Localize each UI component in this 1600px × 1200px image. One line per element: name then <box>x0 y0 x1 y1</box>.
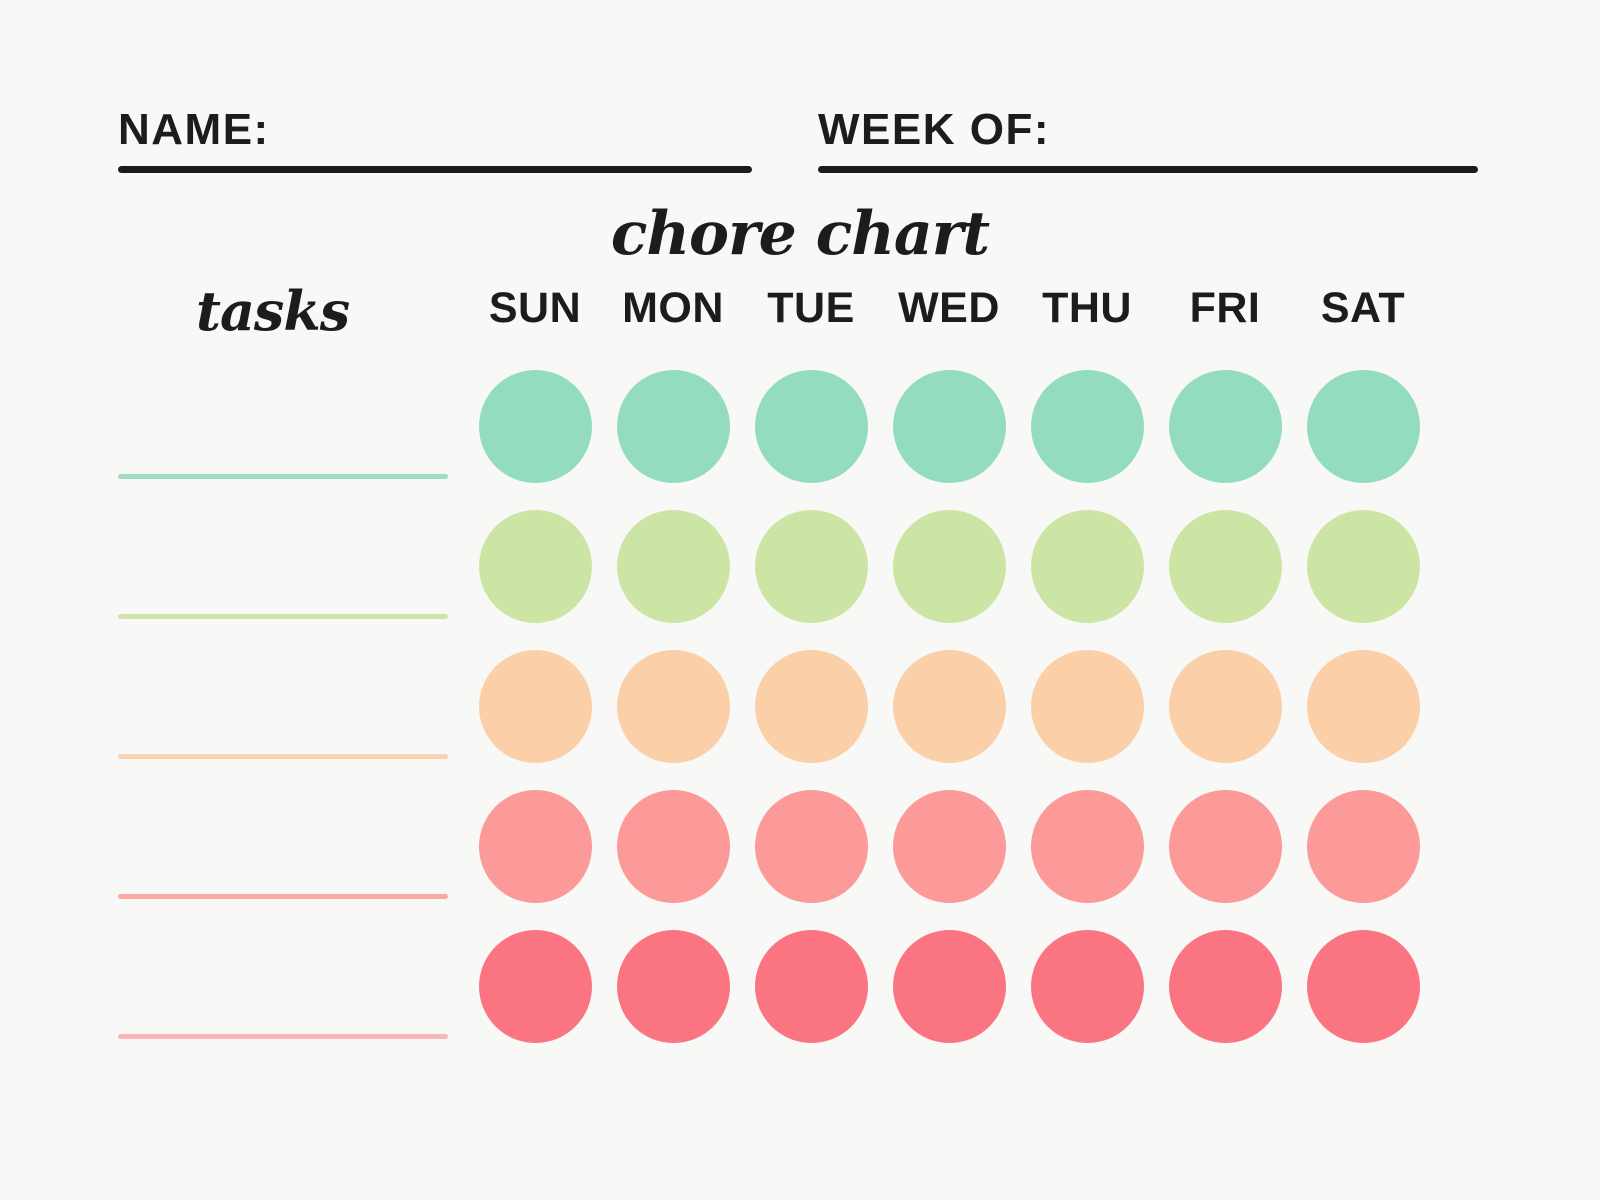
chore-checkbox-circle-sat[interactable] <box>1307 510 1420 623</box>
chore-checkbox-circle-tue[interactable] <box>755 650 868 763</box>
day-header-sat: SAT <box>1294 287 1432 330</box>
page-title: chore chart <box>0 204 1600 264</box>
chore-checkbox-circle-fri[interactable] <box>1169 930 1282 1043</box>
checkbox-row <box>466 496 1432 636</box>
tasks-column-header: tasks <box>196 284 349 338</box>
day-header-fri: FRI <box>1156 287 1294 330</box>
task-input-5[interactable] <box>118 916 448 1056</box>
chore-checkbox-circle-mon[interactable] <box>617 510 730 623</box>
chore-row <box>0 776 1600 916</box>
chore-checkbox-circle-sat[interactable] <box>1307 790 1420 903</box>
chore-checkbox-circle-sun[interactable] <box>479 510 592 623</box>
day-header-thu: THU <box>1018 287 1156 330</box>
chore-checkbox-circle-fri[interactable] <box>1169 370 1282 483</box>
task-write-in-line[interactable] <box>118 474 448 479</box>
day-header-row: SUNMONTUEWEDTHUFRISAT <box>466 287 1432 330</box>
task-write-in-line[interactable] <box>118 894 448 899</box>
chore-checkbox-circle-wed[interactable] <box>893 790 1006 903</box>
chore-checkbox-circle-fri[interactable] <box>1169 510 1282 623</box>
chore-checkbox-circle-mon[interactable] <box>617 790 730 903</box>
chore-checkbox-circle-wed[interactable] <box>893 930 1006 1043</box>
week-of-field-group: WEEK OF: <box>818 108 1478 173</box>
task-input-2[interactable] <box>118 496 448 636</box>
chore-checkbox-circle-mon[interactable] <box>617 650 730 763</box>
chore-checkbox-circle-sun[interactable] <box>479 650 592 763</box>
day-header-mon: MON <box>604 287 742 330</box>
task-write-in-line[interactable] <box>118 754 448 759</box>
chore-checkbox-circle-sun[interactable] <box>479 930 592 1043</box>
chore-checkbox-circle-tue[interactable] <box>755 370 868 483</box>
name-field-label: NAME: <box>118 108 752 152</box>
checkbox-row <box>466 916 1432 1056</box>
chore-checkbox-circle-thu[interactable] <box>1031 370 1144 483</box>
chore-row <box>0 916 1600 1056</box>
chore-checkbox-circle-tue[interactable] <box>755 930 868 1043</box>
chore-checkbox-circle-fri[interactable] <box>1169 790 1282 903</box>
name-write-in-line[interactable] <box>118 166 752 173</box>
checkbox-row <box>466 356 1432 496</box>
chore-row <box>0 636 1600 776</box>
week-of-write-in-line[interactable] <box>818 166 1478 173</box>
chore-checkbox-circle-thu[interactable] <box>1031 510 1144 623</box>
name-field-group: NAME: <box>118 108 752 173</box>
task-input-1[interactable] <box>118 356 448 496</box>
chore-checkbox-circle-fri[interactable] <box>1169 650 1282 763</box>
chore-checkbox-circle-sat[interactable] <box>1307 370 1420 483</box>
task-input-4[interactable] <box>118 776 448 916</box>
chore-checkbox-circle-sat[interactable] <box>1307 930 1420 1043</box>
chore-checkbox-circle-tue[interactable] <box>755 510 868 623</box>
chore-grid <box>0 356 1600 1056</box>
chore-row <box>0 496 1600 636</box>
day-header-tue: TUE <box>742 287 880 330</box>
chore-checkbox-circle-tue[interactable] <box>755 790 868 903</box>
chore-checkbox-circle-sun[interactable] <box>479 370 592 483</box>
day-header-sun: SUN <box>466 287 604 330</box>
chore-checkbox-circle-wed[interactable] <box>893 510 1006 623</box>
checkbox-row <box>466 636 1432 776</box>
chore-checkbox-circle-thu[interactable] <box>1031 790 1144 903</box>
chore-checkbox-circle-mon[interactable] <box>617 930 730 1043</box>
chore-checkbox-circle-mon[interactable] <box>617 370 730 483</box>
chore-checkbox-circle-wed[interactable] <box>893 650 1006 763</box>
checkbox-row <box>466 776 1432 916</box>
chore-chart-sheet: NAME: WEEK OF: chore chart tasks SUNMONT… <box>0 0 1600 1200</box>
chore-checkbox-circle-thu[interactable] <box>1031 930 1144 1043</box>
task-write-in-line[interactable] <box>118 614 448 619</box>
chore-checkbox-circle-thu[interactable] <box>1031 650 1144 763</box>
week-of-field-label: WEEK OF: <box>818 108 1478 152</box>
task-write-in-line[interactable] <box>118 1034 448 1039</box>
chore-checkbox-circle-sun[interactable] <box>479 790 592 903</box>
chore-checkbox-circle-wed[interactable] <box>893 370 1006 483</box>
day-header-wed: WED <box>880 287 1018 330</box>
chore-row <box>0 356 1600 496</box>
task-input-3[interactable] <box>118 636 448 776</box>
chore-checkbox-circle-sat[interactable] <box>1307 650 1420 763</box>
